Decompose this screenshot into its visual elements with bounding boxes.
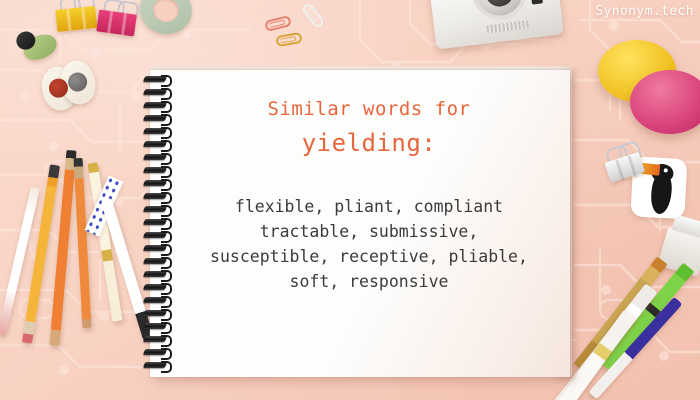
page-content: Similar words for yielding: flexible, pl… [176,70,562,377]
synonym-line: susceptible, receptive, pliable, [176,244,562,269]
synonym-line: flexible, pliant, compliant [176,194,562,219]
synonym-line: soft, responsive [176,269,562,294]
page-headword: yielding: [176,129,562,157]
synonym-list: flexible, pliant, compliant tractable, s… [176,194,562,294]
page-title-prefix: Similar words for [176,98,562,120]
brand-watermark: Synonym.tech [595,4,694,19]
yellow-binder-clip [55,0,98,32]
spiral-binding [142,74,176,374]
synonym-line: tractable, submissive, [176,219,562,244]
screenshot-stage: Similar words for yielding: flexible, pl… [0,0,700,400]
pink-macaron [630,70,700,134]
pink-binder-clip [96,3,138,36]
